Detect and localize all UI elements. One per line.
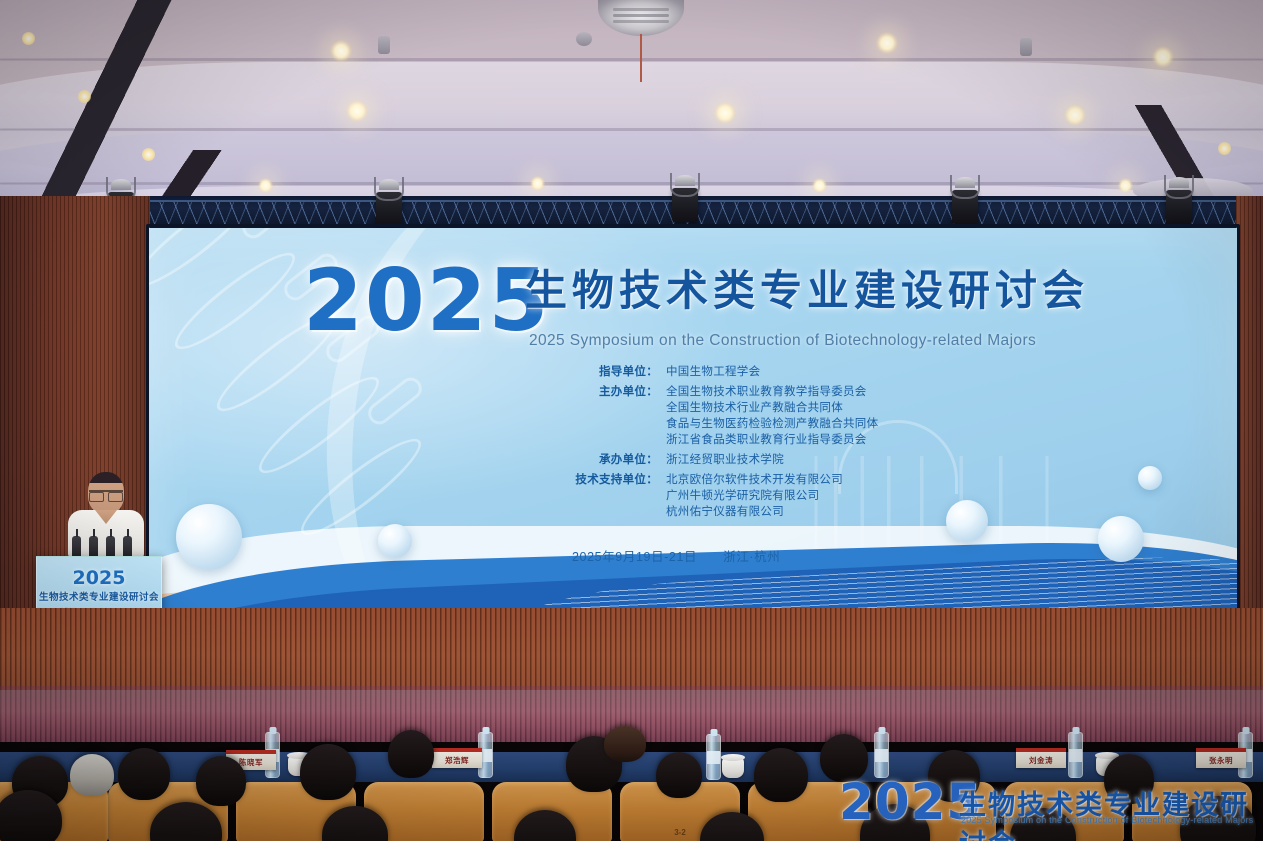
organizer-values: 全国生物技术职业教育教学指导委员会 全国生物技术行业产教融合共同体 食品与生物医… — [666, 384, 878, 448]
screen-date: 2025年9月19日-21日 — [572, 550, 697, 564]
watermark-overlay: 2025 生物技术类专业建设研讨会 2025 Symposium on the … — [831, 779, 1255, 837]
audience-head — [754, 748, 808, 802]
water-bottle — [1068, 732, 1083, 778]
organizer-row: 承办单位： 浙江经贸职业技术学院 — [554, 452, 974, 468]
organizer-values: 浙江经贸职业技术学院 — [666, 452, 784, 468]
ceiling-downlight — [714, 102, 736, 124]
seat-number: 3-2 — [674, 828, 686, 837]
ceiling-smoke-detector-icon — [576, 32, 592, 46]
organizer-row: 指导单位： 中国生物工程学会 — [554, 364, 974, 380]
name-card: 张永明 — [1196, 748, 1246, 768]
tea-cup — [722, 758, 744, 778]
truss-lamp — [1218, 142, 1231, 155]
audience-head — [70, 754, 114, 796]
organizer-value: 浙江经贸职业技术学院 — [666, 452, 784, 468]
side-wall-right — [1236, 196, 1263, 626]
organizer-value: 北京欧倍尔软件技术开发有限公司 — [666, 472, 843, 488]
organizer-values: 北京欧倍尔软件技术开发有限公司 广州牛顿光学研究院有限公司 杭州佑宁仪器有限公司 — [666, 472, 843, 520]
organizer-row: 技术支持单位： 北京欧倍尔软件技术开发有限公司 广州牛顿光学研究院有限公司 杭州… — [554, 472, 974, 520]
conference-photo: 2025 生物技术类专业建设研讨会 2025 Symposium on the … — [0, 0, 1263, 841]
ceiling-downlight — [530, 176, 545, 191]
organizer-label: 主办单位： — [554, 384, 658, 400]
screen-year: 2025 — [303, 258, 550, 344]
organizer-value: 食品与生物医药检验检测产教融合共同体 — [666, 416, 878, 432]
truss-lamp — [78, 90, 91, 103]
organizer-values: 中国生物工程学会 — [666, 364, 760, 380]
glasses-icon — [89, 490, 123, 499]
ceiling-downlight — [812, 178, 827, 193]
ceiling-sensor-icon — [1020, 38, 1032, 56]
name-card-label: 郑浩辉 — [445, 755, 469, 766]
stage-spotlight — [672, 188, 698, 222]
stage-spotlight — [1166, 190, 1192, 224]
organizer-value: 广州牛顿光学研究院有限公司 — [666, 488, 843, 504]
led-backdrop-screen: 2025 生物技术类专业建设研讨会 2025 Symposium on the … — [148, 228, 1238, 610]
ceiling-sensor-icon — [378, 36, 390, 54]
audience-head — [388, 730, 434, 778]
name-card: 刘金涛 — [1016, 748, 1066, 768]
name-card-label: 张永明 — [1209, 755, 1233, 766]
screen-title-cn: 生物技术类专业建设研讨会 — [525, 270, 1089, 312]
water-bottle — [706, 734, 721, 780]
organizer-label: 指导单位： — [554, 364, 658, 380]
ceiling-downlight — [330, 40, 352, 62]
podium-year: 2025 — [73, 567, 126, 589]
audience-head — [300, 744, 356, 800]
audience-head — [118, 748, 170, 800]
decorative-sphere — [176, 504, 242, 570]
organizer-row: 主办单位： 全国生物技术职业教育教学指导委员会 全国生物技术行业产教融合共同体 … — [554, 384, 974, 448]
ceiling-drop-wire — [640, 34, 642, 82]
truss-lattice — [0, 202, 1263, 224]
organizer-label: 承办单位： — [554, 452, 658, 468]
organizer-list: 指导单位： 中国生物工程学会 主办单位： 全国生物技术职业教育教学指导委员会 全… — [554, 364, 974, 524]
organizer-value: 中国生物工程学会 — [666, 364, 760, 380]
watermark-title-cn: 生物技术类专业建设研讨会 — [959, 783, 1255, 841]
name-card: 郑浩辉 — [432, 748, 482, 768]
watermark-title-en: 2025 Symposium on the Construction of Bi… — [961, 815, 1253, 825]
ceiling-downlight — [346, 100, 368, 122]
decorative-sphere — [378, 524, 412, 558]
decorative-sphere — [1138, 466, 1162, 490]
stage-spotlight — [376, 192, 402, 226]
screen-date-location: 2025年9月19日-21日 浙江·杭州 — [572, 546, 780, 565]
name-card-label: 陈晓军 — [239, 757, 263, 768]
organizer-value: 浙江省食品类职业教育行业指导委员会 — [666, 432, 878, 448]
water-bottle — [874, 732, 889, 778]
organizer-value: 杭州佑宁仪器有限公司 — [666, 504, 843, 520]
audience-head — [604, 726, 646, 762]
truss-rail — [0, 224, 1263, 226]
podium-title-cn: 生物技术类专业建设研讨会 — [39, 589, 159, 603]
organizer-value: 全国生物技术行业产教融合共同体 — [666, 400, 878, 416]
organizer-value: 全国生物技术职业教育教学指导委员会 — [666, 384, 878, 400]
lighting-truss — [0, 196, 1263, 230]
screen-location: 浙江·杭州 — [723, 550, 780, 564]
stage-spotlight — [952, 190, 978, 224]
audience-head — [656, 752, 702, 798]
audience-head — [196, 756, 246, 806]
screen-title-en: 2025 Symposium on the Construction of Bi… — [529, 332, 1036, 350]
name-card-label: 刘金涛 — [1029, 755, 1053, 766]
decorative-sphere — [1098, 516, 1144, 562]
truss-lamp — [22, 32, 35, 45]
organizer-label: 技术支持单位： — [554, 472, 658, 488]
ceiling-downlight — [876, 32, 898, 54]
truss-lamp — [142, 148, 155, 161]
ceiling-downlight — [1152, 46, 1174, 68]
